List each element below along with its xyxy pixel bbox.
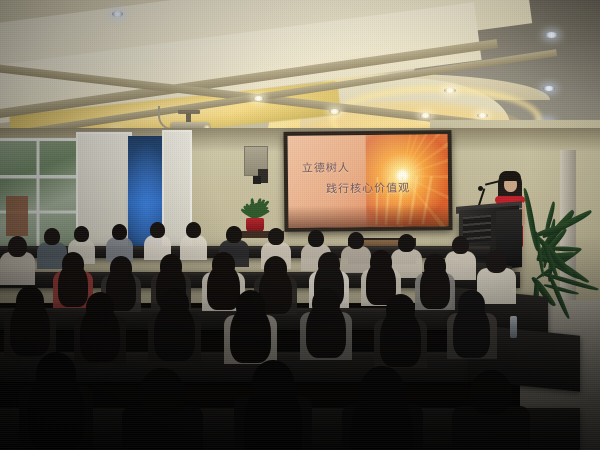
downlight-3 — [329, 109, 340, 114]
water-bottle — [510, 316, 517, 338]
slide-line-2: 践行核心价值观 — [326, 180, 410, 197]
person-head — [252, 360, 294, 405]
person-head — [110, 256, 132, 280]
person-head — [74, 226, 89, 242]
person-head — [458, 290, 485, 319]
person-head — [312, 288, 340, 318]
person-head — [86, 292, 114, 322]
person-head — [348, 232, 364, 249]
person-head — [150, 222, 165, 238]
window-outdoor-structure — [6, 196, 28, 236]
projection-screen: 立德树人 践行核心价值观 — [283, 130, 452, 232]
person-head — [424, 254, 446, 278]
person-head — [486, 250, 507, 273]
downlight-2 — [444, 88, 456, 93]
person-head — [360, 366, 404, 414]
wall-speaker-mount — [253, 176, 261, 184]
person-torso — [180, 235, 208, 261]
person-head — [62, 252, 84, 276]
person-head — [268, 228, 284, 245]
person-head — [308, 230, 324, 247]
person-head — [112, 224, 127, 240]
conference-hall-photo: 立德树人 践行核心价值观 — [0, 0, 600, 450]
screen-surface: 立德树人 践行核心价值观 — [288, 134, 449, 228]
person-head — [140, 368, 184, 416]
person-head — [236, 290, 265, 321]
person-head — [160, 254, 182, 278]
slide-line-1: 立德树人 — [302, 159, 410, 176]
person-head — [36, 352, 76, 395]
person-head — [8, 236, 27, 257]
person-head — [186, 222, 201, 238]
downlight-4 — [420, 113, 431, 118]
downlight-11 — [253, 96, 264, 101]
microphone-icon — [478, 186, 483, 191]
person-head — [318, 252, 340, 276]
person-head — [212, 252, 235, 277]
person-head — [370, 250, 392, 274]
person-head — [16, 286, 44, 316]
downlight-6 — [543, 86, 555, 91]
person-head — [452, 236, 469, 254]
slide-text-block: 立德树人 践行核心价值观 — [302, 159, 410, 197]
person-torso — [0, 252, 35, 284]
downlight-5 — [477, 113, 488, 118]
person-head — [44, 228, 60, 245]
person-head — [386, 294, 415, 325]
downlight-0 — [112, 11, 123, 17]
person-head — [398, 234, 415, 252]
person-head — [226, 226, 242, 243]
plant-pot-red — [246, 218, 264, 232]
screen-bottom-shadow — [288, 204, 448, 228]
person-head — [160, 288, 189, 319]
person-head — [264, 256, 287, 281]
downlight-1 — [545, 32, 558, 38]
person-head — [470, 370, 512, 415]
speaker-hair-front — [499, 171, 521, 181]
